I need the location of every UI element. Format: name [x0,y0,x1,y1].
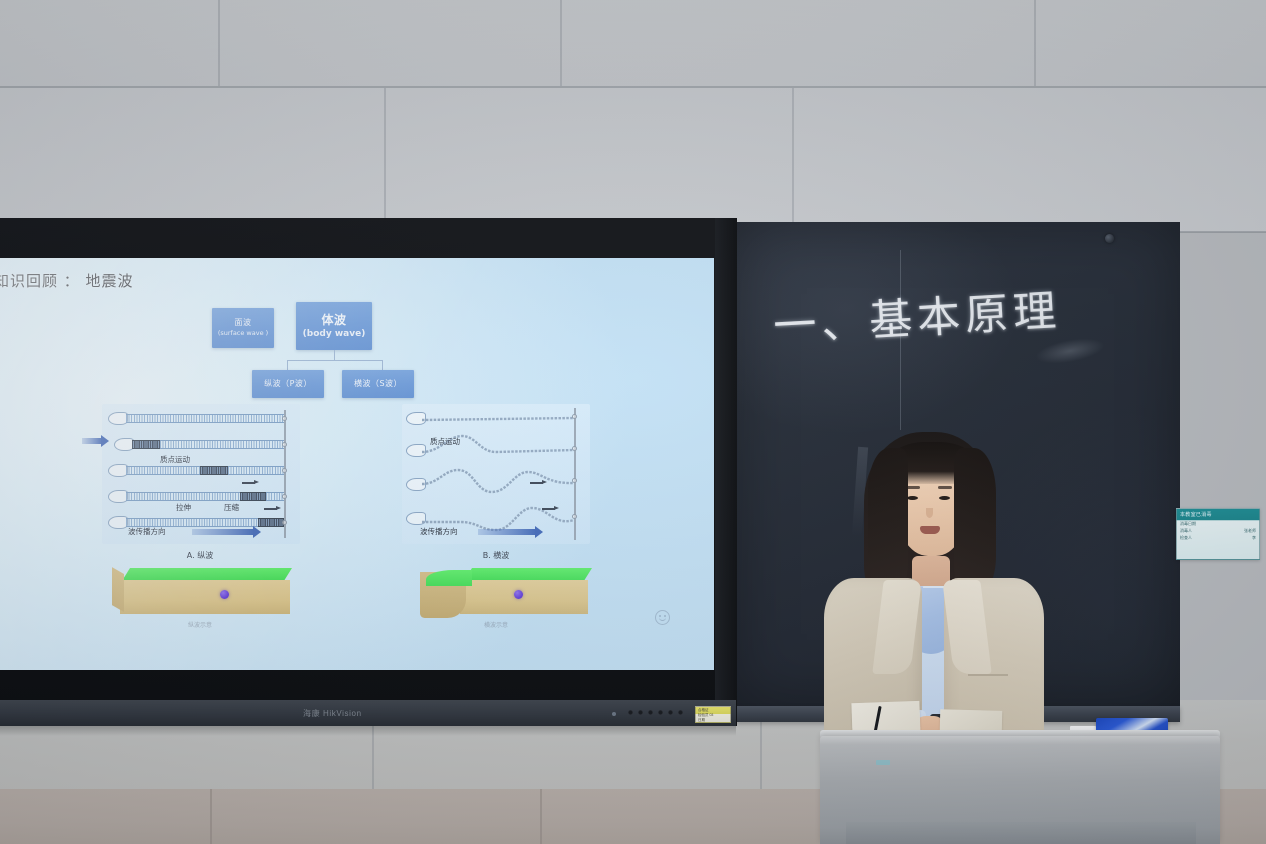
wall-card-heading: 本教室已消毒 [1177,509,1259,518]
post-knob-2 [282,442,287,447]
label-propagation-right: 波传播方向 [420,526,458,537]
wall-seam-vertical-2 [560,0,562,86]
slide-title: 知识回顾 ： 地震波 [0,270,134,291]
presentation-screen[interactable]: 知识回顾 ： 地震波 面波 (surface wave ) 体波 (body w… [0,258,714,670]
wall-card-body: 消毒日期 消毒人 张老师 检查人 李 [1177,518,1259,544]
push-arrow-icon [82,438,102,444]
flowchart-box-p-wave: 纵波（P波） [252,370,324,398]
particle-marker-left [220,590,229,599]
small-arrow-3 [530,482,543,484]
spring-row-2 [160,440,284,449]
small-arrow-4 [542,508,555,510]
panel-button-source[interactable] [638,710,643,715]
post-knob-5 [282,520,287,525]
surface-wave-cn: 面波 [235,318,252,329]
flowchart-connector-bar [287,360,383,361]
wainscot-seam-1 [210,789,212,844]
flowchart-box-surface-wave: 面波 (surface wave ) [212,308,274,348]
grass-dip-right [426,570,472,586]
soil-layer-left [120,580,290,614]
ground-block-longitudinal: 纵波示意 [112,568,292,626]
wall-card-value-2: 张老师 [1244,528,1256,535]
small-arrow-1 [242,482,255,484]
compression-band-2 [200,466,228,475]
wall-card-label-1: 消毒日期 [1180,521,1196,528]
eye-right [939,496,950,500]
wall-card-value-3: 李 [1252,535,1256,542]
post-knob-1 [282,416,287,421]
small-arrow-2 [264,508,277,510]
wall-seam-vertical-4 [384,88,386,232]
hand-icon-1 [108,412,128,425]
panel-right-bezel [715,218,737,726]
classroom-scene: 一、基本原理 知识回顾 ： 地震波 面波 (surface wave ) 体波 … [0,0,1266,844]
wall-card-row: 消毒人 张老师 [1180,528,1256,535]
wall-card-label-3: 检查人 [1180,535,1192,542]
s-wave-cn: 横波（S波） [354,379,402,390]
label-propagation-left: 波传播方向 [128,526,166,537]
rope-knob-1 [572,414,577,419]
label-particle-motion-left: 质点运动 [160,454,190,465]
panel-brand-label: 海康 HikVision [303,708,362,719]
spring-row-3b [228,466,284,475]
rope-knob-2 [572,446,577,451]
ground-caption-right: 横波示意 [456,620,536,629]
smiley-face-watermark-icon [655,610,670,625]
grass-layer-right [465,568,592,580]
blackboard-mount-screw-icon [1105,234,1114,243]
podium-base [846,822,1196,844]
wall-card-row: 消毒日期 [1180,521,1256,528]
body-wave-cn: 体波 [321,312,346,328]
hand-icon-4 [108,490,128,503]
hand-icon-5 [108,516,128,529]
smiley-mouth [659,617,666,621]
ir-receiver-icon [612,712,616,716]
p-wave-cn: 纵波（P波） [264,379,312,390]
compression-band-3 [240,492,266,501]
eyebrow-left [906,486,920,489]
soil-layer-right [460,580,588,614]
hand-icon-3 [108,464,128,477]
post-knob-3 [282,468,287,473]
wall-seam-vertical-3 [1034,0,1036,86]
compression-band-1 [132,440,160,449]
spring-row-4a [126,492,240,501]
panel-drop-shadow [0,726,736,736]
propagation-arrow-right-icon [478,529,536,535]
wainscot-seam-2 [540,789,542,844]
wave-post-left [284,410,286,538]
compression-band-4 [258,518,284,527]
panel-button-home[interactable] [678,710,683,715]
spring-row-1 [126,414,284,423]
wall-card-label-2: 消毒人 [1180,528,1192,535]
wall-seam-horizontal-1 [0,86,1266,88]
hair-left-side [868,448,908,598]
rope-curve-1 [422,408,578,430]
panel-control-bar[interactable]: 海康 HikVision 合格证 检验员 03 日期 [0,700,736,726]
eyebrow-right [938,486,952,489]
eye-left [907,496,918,500]
flowchart-connector-right [382,360,383,370]
disinfection-notice-card: 本教室已消毒 消毒日期 消毒人 张老师 检查人 李 [1176,508,1260,560]
wall-seam-vertical-1 [218,0,220,86]
rope-curve-3 [422,462,578,496]
flowchart-connector-left [287,360,288,370]
grass-layer-left [123,568,292,580]
rope-knob-4 [572,514,577,519]
label-particle-motion-right: 质点运动 [430,436,460,447]
post-knob-4 [282,494,287,499]
label-stretch: 拉伸 [176,502,191,513]
longitudinal-wave-diagram [102,404,300,544]
blazer-pocket [968,674,1008,676]
propagation-arrow-left-icon [192,529,254,535]
panel-button-power[interactable] [628,710,633,715]
flowchart-box-s-wave: 横波（S波） [342,370,414,398]
panel-button-menu[interactable] [648,710,653,715]
panel-certification-sticker: 合格证 检验员 03 日期 [695,706,731,723]
soil-side-left [112,567,124,612]
panel-button-vol-up[interactable] [668,710,673,715]
caption-longitudinal: A. 纵波 [140,550,260,561]
ground-block-transverse: 横波示意 [412,568,592,626]
surface-wave-en: (surface wave ) [218,329,268,338]
label-compress: 压缩 [224,502,239,513]
wall-seam-vertical-5 [792,88,794,232]
caption-transverse: B. 横波 [436,550,556,561]
flowchart-box-body-wave: 体波 (body wave) [296,302,372,350]
particle-marker-right [514,590,523,599]
rope-knob-3 [572,478,577,483]
mouth [920,526,940,534]
wall-card-row: 检查人 李 [1180,535,1256,542]
nose [926,508,933,518]
wall-mid-panel [0,86,1266,232]
hand-icon-2 [114,438,134,451]
ground-caption-left: 纵波示意 [160,620,240,629]
body-wave-en: (body wave) [303,328,366,340]
panel-button-row[interactable] [628,710,683,715]
transverse-wave-diagram [402,404,590,544]
sticker-line-3: 日期 [698,718,728,723]
panel-button-vol-down[interactable] [658,710,663,715]
flowchart-connector-stem [334,350,335,360]
spring-row-3a [126,466,200,475]
podium-sticker [876,760,890,765]
